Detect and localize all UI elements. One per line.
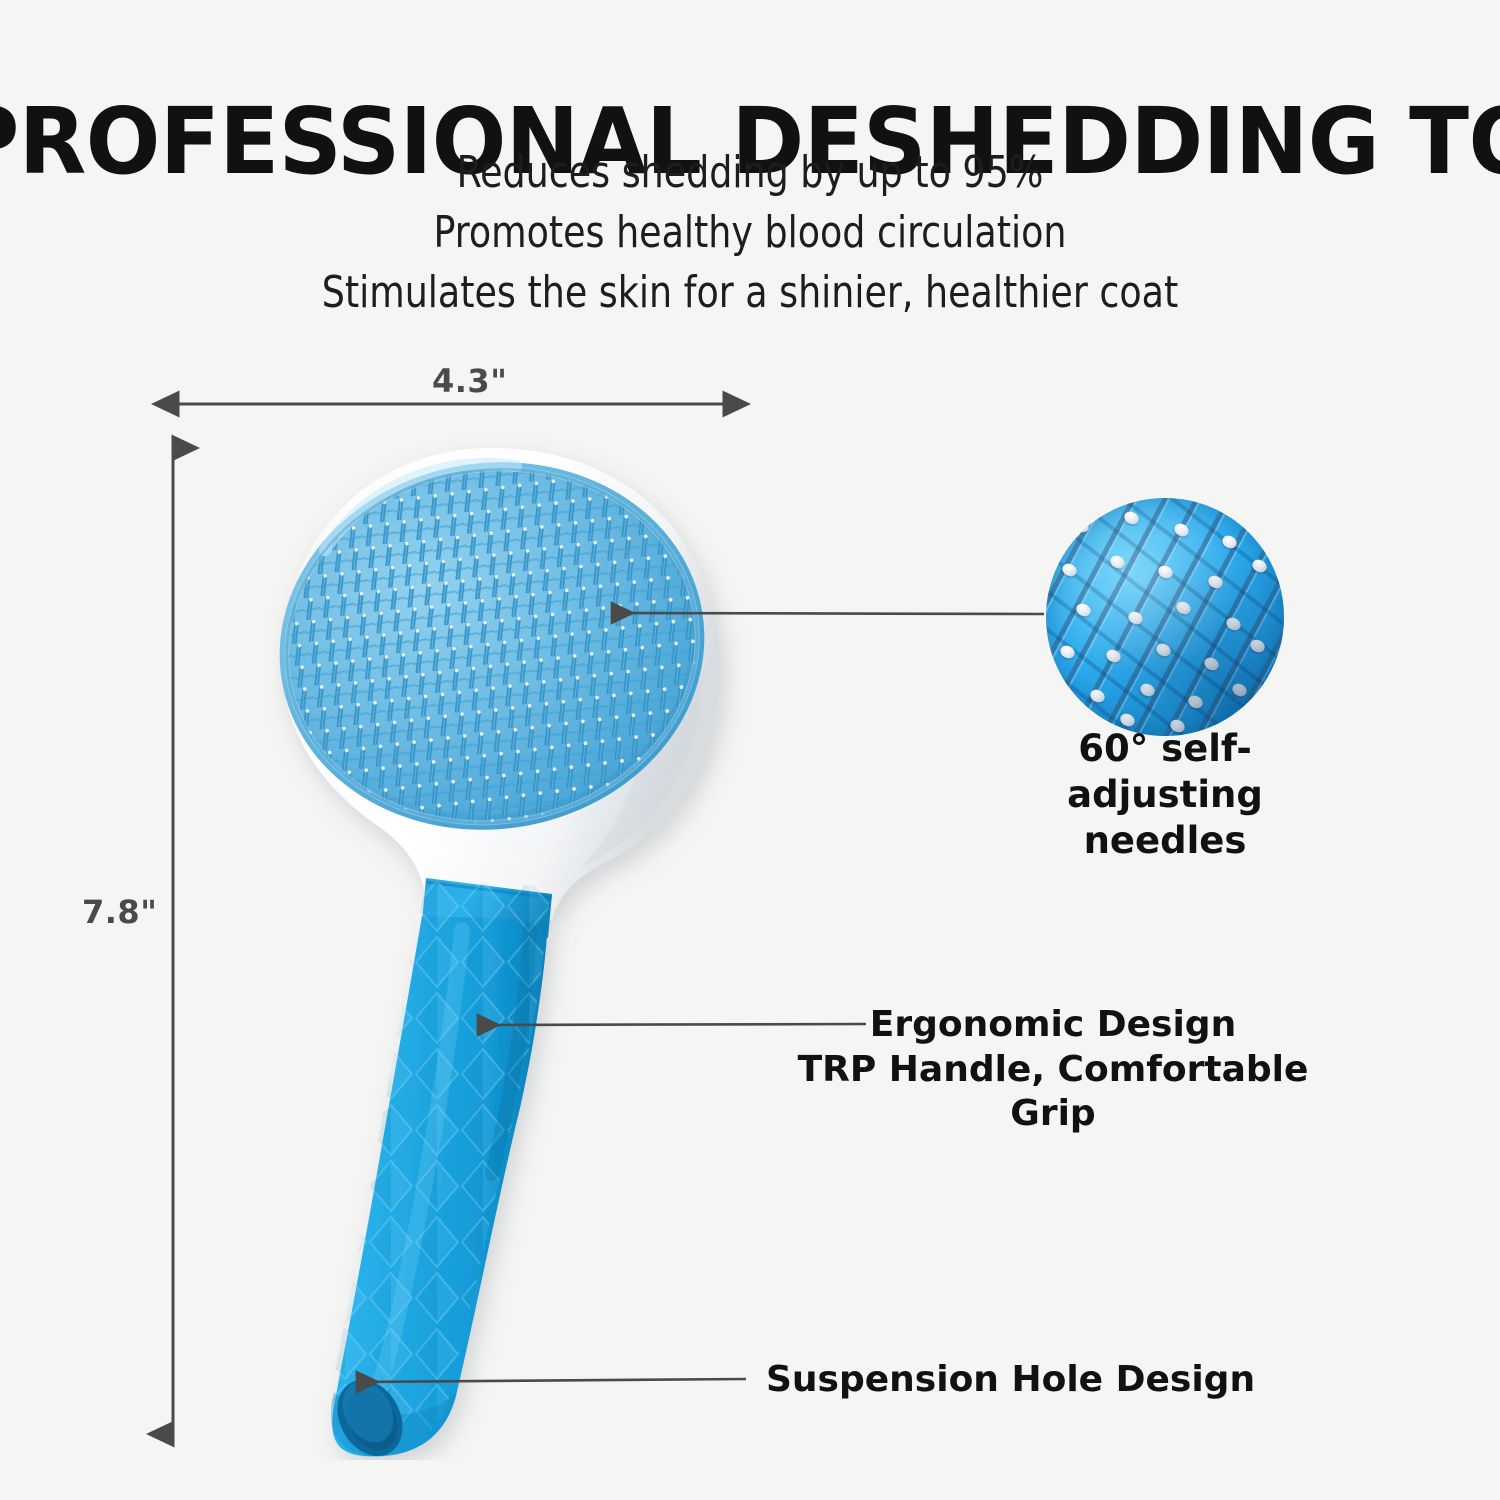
infographic-canvas: PROFESSIONAL DESHEDDING TOOL Reduces she… xyxy=(0,0,1500,1500)
subheading-line-2: Promotes healthy blood circulation xyxy=(60,203,1440,263)
callout-needles-line-1: 60° self-adjusting xyxy=(1067,727,1263,816)
product-vector xyxy=(230,430,950,1460)
callout-needles: 60° self-adjusting needles xyxy=(995,726,1335,864)
subheading-list: Reduces shedding by up to 95% Promotes h… xyxy=(0,143,1500,323)
callout-ergonomic-line-1: Ergonomic Design xyxy=(768,1003,1338,1048)
callout-suspension-line-1: Suspension Hole Design xyxy=(766,1359,1255,1400)
product-image xyxy=(230,430,950,1460)
tpr-handle-grip xyxy=(310,870,590,1460)
dimension-height-label: 7.8" xyxy=(82,893,157,931)
callout-needles-line-2: needles xyxy=(1084,819,1247,862)
inset-shading xyxy=(1046,498,1284,736)
subheading-line-3: Stimulates the skin for a shinier, healt… xyxy=(60,263,1440,323)
dimension-width-label: 4.3" xyxy=(432,362,507,400)
callout-ergonomic-line-2: TRP Handle, Comfortable Grip xyxy=(768,1048,1338,1137)
callout-suspension: Suspension Hole Design xyxy=(766,1358,1255,1403)
callout-ergonomic: Ergonomic Design TRP Handle, Comfortable… xyxy=(768,1003,1338,1137)
subheading-line-1: Reduces shedding by up to 95% xyxy=(60,143,1440,203)
needle-detail-inset xyxy=(1046,498,1284,736)
